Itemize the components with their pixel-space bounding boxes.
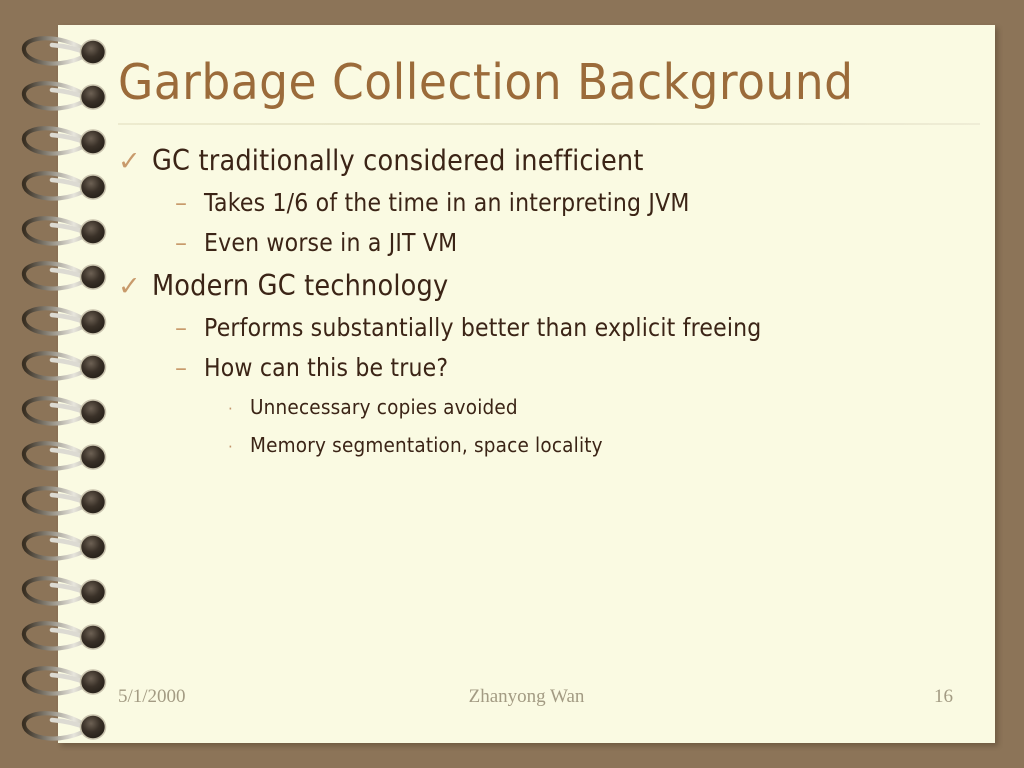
bullet-item-level-2: –Even worse in a JIT VM bbox=[118, 223, 980, 263]
bullet-item-level-1: ✓GC traditionally considered inefficient bbox=[118, 138, 980, 183]
bullet-text: Unnecessary copies avoided bbox=[250, 388, 518, 426]
check-mark-icon: ✓ bbox=[118, 139, 152, 184]
bullet-item-level-2: –How can this be true? bbox=[118, 348, 980, 388]
slide-canvas: Garbage Collection Background ✓GC tradit… bbox=[0, 0, 1024, 768]
dash-mark-icon: – bbox=[175, 308, 204, 348]
bullet-item-level-1: ✓Modern GC technology bbox=[118, 263, 980, 308]
dash-mark-icon: – bbox=[175, 183, 204, 223]
bullet-text: Memory segmentation, space locality bbox=[250, 426, 603, 464]
dash-mark-icon: – bbox=[175, 348, 204, 388]
dash-mark-icon: – bbox=[175, 223, 204, 263]
check-mark-icon: ✓ bbox=[118, 264, 152, 309]
page-title: Garbage Collection Background bbox=[118, 52, 920, 114]
bullet-text: Modern GC technology bbox=[152, 263, 448, 308]
bullet-item-level-3: ·Memory segmentation, space locality bbox=[118, 426, 980, 464]
bullet-text: Performs substantially better than expli… bbox=[204, 308, 761, 348]
dot-mark-icon: · bbox=[228, 390, 250, 428]
title-divider bbox=[118, 123, 980, 125]
bullet-text: Takes 1/6 of the time in an interpreting… bbox=[204, 183, 690, 223]
bullet-text: Even worse in a JIT VM bbox=[204, 223, 457, 263]
bullet-list: ✓GC traditionally considered inefficient… bbox=[118, 138, 980, 464]
dot-mark-icon: · bbox=[228, 428, 250, 466]
title-block: Garbage Collection Background bbox=[118, 52, 980, 114]
bullet-item-level-3: ·Unnecessary copies avoided bbox=[118, 388, 980, 426]
bullet-item-level-2: –Performs substantially better than expl… bbox=[118, 308, 980, 348]
bullet-text: How can this be true? bbox=[204, 348, 448, 388]
footer-author: Zhanyong Wan bbox=[58, 686, 995, 708]
slide-footer: 5/1/2000 Zhanyong Wan 16 bbox=[58, 686, 995, 716]
bullet-item-level-2: –Takes 1/6 of the time in an interpretin… bbox=[118, 183, 980, 223]
footer-page-number: 16 bbox=[934, 686, 953, 708]
bullet-text: GC traditionally considered inefficient bbox=[152, 138, 644, 183]
